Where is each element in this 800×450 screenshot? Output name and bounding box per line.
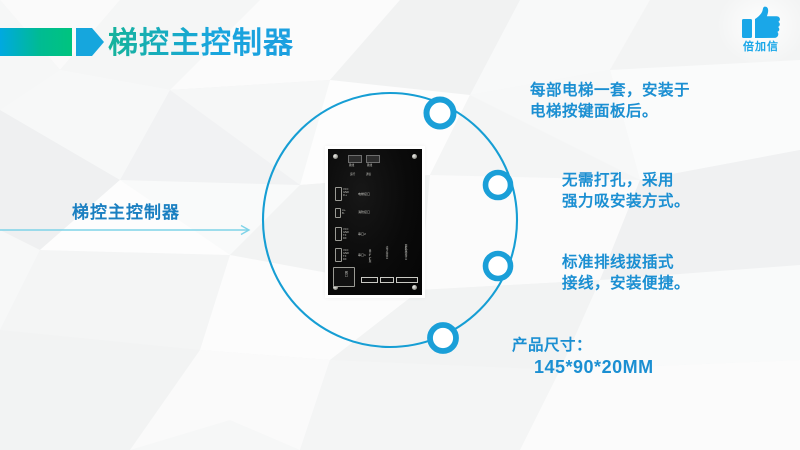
diagram-node-2 xyxy=(486,173,511,198)
bullet-mounting-line1: 无需打孔，采用 xyxy=(562,172,674,189)
header-gradient-bar xyxy=(0,28,72,56)
screw-top-left xyxy=(333,154,338,159)
silk-bottom-3: 面板按键接口 xyxy=(404,244,407,260)
silk-port-3: 串口2 xyxy=(358,233,366,236)
page-title: 梯控主控制器 xyxy=(108,18,294,62)
silk-left-block: 网口 xyxy=(344,271,347,277)
silk-bottom-1: 串口1扩展 xyxy=(368,249,371,262)
slide-canvas: 梯控主控制器 倍加信 梯控主控制器 xyxy=(0,0,800,450)
connector-serial-1 xyxy=(335,248,342,262)
bullet-install-line1: 每部电梯一套，安装于 xyxy=(530,82,690,99)
connector-elevator xyxy=(335,187,342,201)
bullet-mounting: 无需打孔，采用 强力吸安装方式。 xyxy=(562,170,690,212)
connector-fire xyxy=(335,208,341,218)
bullet-install-line2: 电梯按键面板后。 xyxy=(530,101,690,122)
silk-connector-elevator-pins: VCCGNDD+ xyxy=(343,188,349,197)
network-jack xyxy=(333,267,355,287)
screw-bottom-right xyxy=(412,285,417,290)
left-arrow-pointer xyxy=(0,218,260,242)
bullet-wiring-line2: 接线，安装便捷。 xyxy=(562,273,690,294)
screw-top-right xyxy=(412,154,417,159)
diagram-node-3 xyxy=(486,254,511,279)
jumper-header-left xyxy=(348,155,362,163)
slide-header: 梯控主控制器 xyxy=(0,0,800,72)
product-size-label: 产品尺寸： xyxy=(512,333,654,355)
silk-top-left-pin: 跳线 xyxy=(349,164,354,167)
diagram-node-4 xyxy=(430,325,456,351)
product-image: 跳线 跳线 运行 通信 VCCGNDD+ 电梯接口 A+B- 消防接口 VCCG… xyxy=(325,146,425,298)
jumper-header-right xyxy=(366,155,380,163)
thumbs-up-icon xyxy=(741,6,781,40)
product-size-value: 145*90*20MM xyxy=(534,357,654,378)
bullet-install: 每部电梯一套，安装于 电梯按键面板后。 xyxy=(530,80,690,122)
silk-port-2: 消防接口 xyxy=(358,211,370,214)
silk-connector-serial2-pins: VCCGNDTXRX xyxy=(343,228,349,240)
bullet-mounting-line2: 强力吸安装方式。 xyxy=(562,191,690,212)
silk-port-1: 电梯接口 xyxy=(358,193,370,196)
pcb-board: 跳线 跳线 运行 通信 VCCGNDD+ 电梯接口 A+B- 消防接口 VCCG… xyxy=(328,149,422,295)
bottom-connector-3 xyxy=(396,277,418,283)
silk-port-4: 串口1 xyxy=(358,254,366,257)
diagram-node-1 xyxy=(427,100,454,127)
bullet-wiring-line1: 标准排线拔插式 xyxy=(562,254,674,271)
silk-bottom-2: 读卡头接口 xyxy=(385,246,388,259)
product-size: 产品尺寸： 145*90*20MM xyxy=(512,333,654,378)
bottom-connector-1 xyxy=(361,277,378,283)
brand-logo: 倍加信 xyxy=(732,6,790,58)
bottom-connector-2 xyxy=(380,277,394,283)
connector-serial-2 xyxy=(335,227,342,241)
silk-connector-fire-pins: A+B- xyxy=(342,209,346,215)
logo-text: 倍加信 xyxy=(732,38,790,54)
silk-top-label-2: 通信 xyxy=(366,173,371,176)
silk-top-right-pin: 跳线 xyxy=(367,164,372,167)
header-arrow-icon xyxy=(76,28,104,56)
silk-connector-serial1-pins: VCCGNDTXRX xyxy=(343,249,349,261)
silk-top-label-1: 运行 xyxy=(350,173,355,176)
bullet-wiring: 标准排线拔插式 接线，安装便捷。 xyxy=(562,252,690,294)
